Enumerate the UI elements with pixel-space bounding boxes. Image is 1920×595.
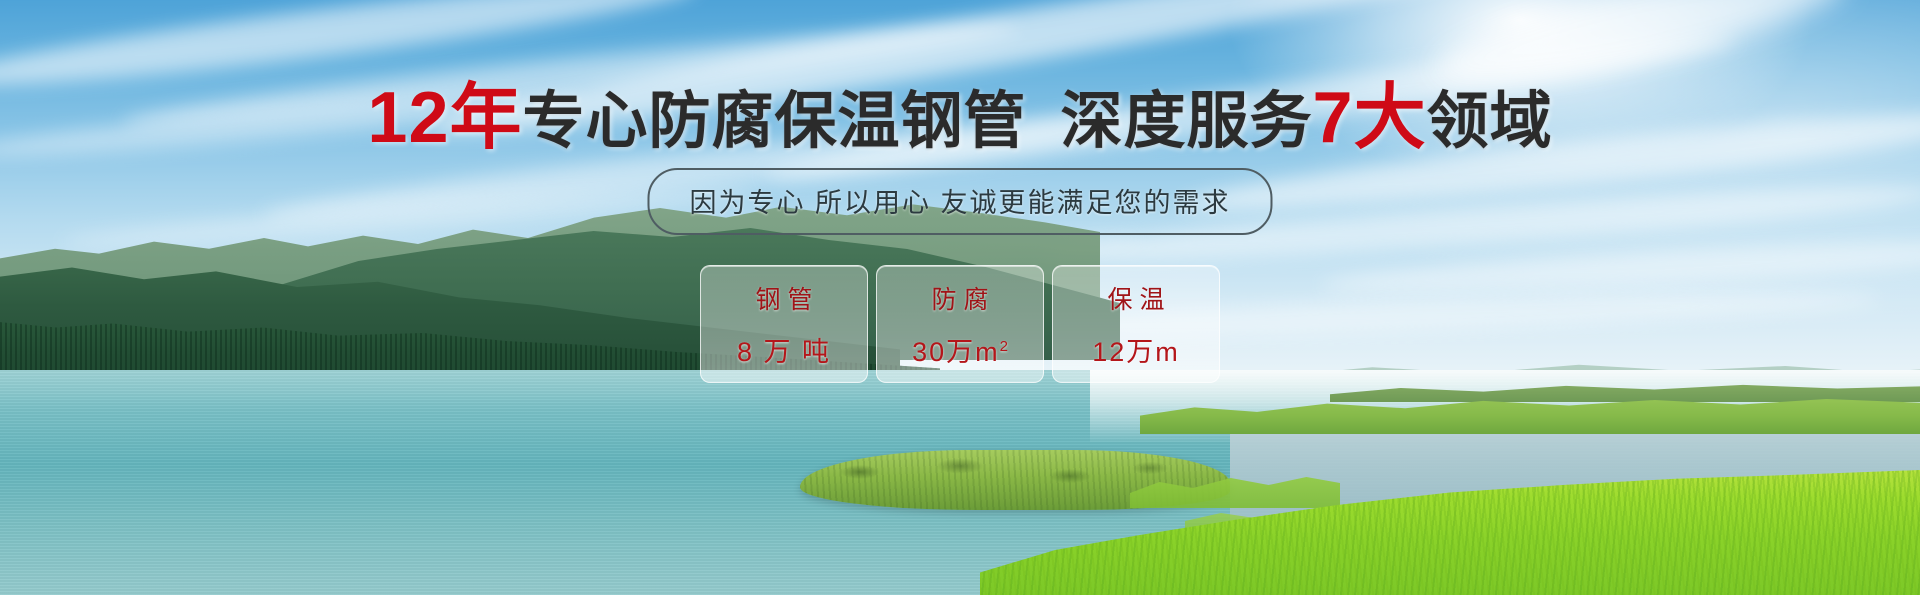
stat-label: 钢管	[748, 280, 819, 316]
headline-main-text: 专心防腐保温钢管	[523, 87, 1027, 156]
banner-headline: 12年专心防腐保温钢管深度服务7大领域	[0, 82, 1920, 154]
stat-value: 30万m2	[912, 330, 1008, 369]
stat-label: 防腐	[924, 280, 995, 316]
stat-card-steel-pipe[interactable]: 钢管 8 万 吨	[700, 265, 868, 383]
stat-value: 8 万 吨	[737, 330, 831, 369]
subtitle-pill: 因为专心 所以用心 友诚更能满足您的需求	[647, 168, 1272, 235]
headline-service-text: 深度服务	[1061, 87, 1313, 156]
stat-card-anticorrosion[interactable]: 防腐 30万m2	[876, 265, 1044, 383]
stat-card-group: 钢管 8 万 吨 防腐 30万m2 保温 12万m	[700, 265, 1220, 383]
headline-fields-text: 领域	[1427, 87, 1553, 156]
stat-label: 保温	[1100, 280, 1171, 316]
stat-value-text: 30万m	[912, 337, 1000, 367]
stat-card-insulation[interactable]: 保温 12万m	[1052, 265, 1220, 383]
headline-years-red: 12年	[367, 78, 522, 158]
stat-value-superscript: 2	[1000, 338, 1008, 355]
stat-value: 12万m	[1092, 330, 1180, 369]
stat-value-text: 12万m	[1092, 337, 1180, 367]
promo-banner: 12年专心防腐保温钢管深度服务7大领域 因为专心 所以用心 友诚更能满足您的需求…	[0, 0, 1920, 595]
headline-seven-red: 7大	[1313, 78, 1427, 158]
stat-value-text: 8 万 吨	[737, 337, 831, 367]
